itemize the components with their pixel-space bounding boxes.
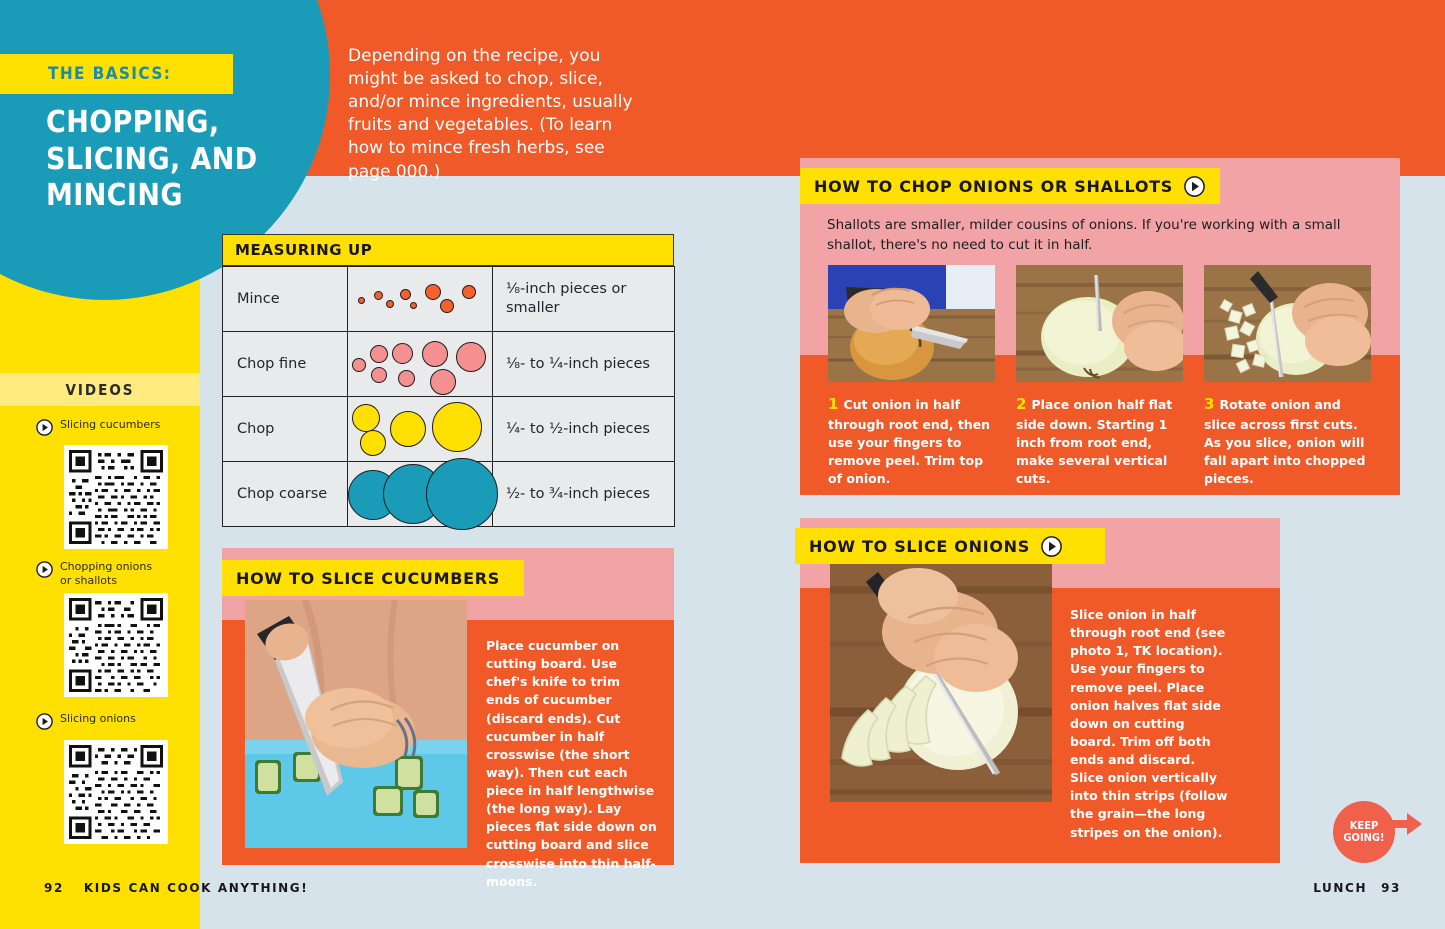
slice-onions-title-bar: HOW TO SLICE ONIONS bbox=[795, 528, 1105, 564]
chop-onions-step-3: 3Rotate onion and slice across first cut… bbox=[1204, 394, 1376, 488]
measuring-up-title: MEASURING UP bbox=[222, 234, 674, 266]
table-cell-size: ¼- to ½-inch pieces bbox=[493, 397, 675, 462]
chop-onions-step-1: 1Cut onion in half through root end, the… bbox=[828, 394, 996, 488]
measuring-up-table-wrapper: MEASURING UP Mince ⅛-inch pi bbox=[222, 234, 674, 527]
step-number: 2 bbox=[1016, 395, 1026, 413]
chop-onions-intro: Shallots are smaller, milder cousins of … bbox=[827, 216, 1372, 255]
photo-slice-onions bbox=[830, 562, 1052, 802]
chop-onions-step-2: 2Place onion half flat side down. Starti… bbox=[1016, 394, 1184, 488]
qr-code-slicing-onions[interactable] bbox=[64, 740, 168, 844]
footer-right: LUNCH93 bbox=[1313, 881, 1407, 895]
slice-cucumbers-title: HOW TO SLICE CUCUMBERS bbox=[236, 569, 500, 588]
table-row: Chop coarse ½- to ¾-inch pieces bbox=[223, 462, 675, 527]
table-row: Chop fine ⅛- to ¼-inch pieces bbox=[223, 332, 675, 397]
page-number-left: 92 bbox=[44, 881, 64, 895]
table-cell-size: ½- to ¾-inch pieces bbox=[493, 462, 675, 527]
play-icon[interactable] bbox=[36, 419, 53, 441]
video-label: Slicing cucumbers bbox=[60, 418, 160, 432]
table-row: Chop ¼- to ½-inch pieces bbox=[223, 397, 675, 462]
measuring-up-table: Mince ⅛-inch pieces or smaller bbox=[222, 266, 675, 527]
videos-header-label: VIDEOS bbox=[65, 381, 134, 399]
table-cell-size: ⅛- to ¼-inch pieces bbox=[493, 332, 675, 397]
table-cell-dots bbox=[348, 397, 493, 462]
table-cell-size: ⅛-inch pieces or smaller bbox=[493, 267, 675, 332]
qr-code-slicing-cucumbers[interactable] bbox=[64, 445, 168, 549]
step-number: 3 bbox=[1204, 395, 1214, 413]
table-row: Mince ⅛-inch pieces or smaller bbox=[223, 267, 675, 332]
section-title-right: LUNCH bbox=[1313, 881, 1367, 895]
video-label: Slicing onions bbox=[60, 712, 136, 726]
photo-rotate-and-slice bbox=[1204, 265, 1371, 382]
chop-onions-title: HOW TO CHOP ONIONS OR SHALLOTS bbox=[814, 177, 1173, 196]
step-number: 1 bbox=[828, 395, 838, 413]
play-icon[interactable] bbox=[36, 561, 53, 583]
play-icon[interactable] bbox=[36, 713, 53, 735]
chop-dots bbox=[348, 397, 493, 462]
step-text: Cut onion in half through root end, then… bbox=[828, 397, 990, 486]
videos-section-header: VIDEOS bbox=[0, 373, 200, 406]
mince-dots bbox=[348, 267, 493, 332]
table-cell-name: Chop fine bbox=[223, 332, 348, 397]
photo-cut-onion-in-half bbox=[828, 265, 995, 382]
video-item-chopping-onions[interactable]: Chopping onions or shallots bbox=[36, 560, 155, 588]
play-icon[interactable] bbox=[1184, 176, 1205, 197]
slice-onions-title: HOW TO SLICE ONIONS bbox=[809, 537, 1030, 556]
chop-coarse-dots bbox=[348, 462, 493, 527]
table-cell-name: Chop bbox=[223, 397, 348, 462]
video-label: Chopping onions or shallots bbox=[60, 560, 155, 588]
book-title-left: KIDS CAN COOK ANYTHING! bbox=[84, 881, 308, 895]
qr-code-chopping-onions[interactable] bbox=[64, 593, 168, 697]
slice-onions-text: Slice onion in half through root end (se… bbox=[1070, 606, 1232, 842]
table-cell-name: Mince bbox=[223, 267, 348, 332]
basics-eyebrow-label: THE BASICS: bbox=[48, 64, 171, 84]
step-text: Rotate onion and slice across first cuts… bbox=[1204, 397, 1365, 486]
page-title: CHOPPING, SLICING, AND MINCING bbox=[46, 105, 336, 215]
slice-cucumbers-text: Place cucumber on cutting board. Use che… bbox=[486, 637, 658, 891]
table-cell-dots bbox=[348, 332, 493, 397]
table-cell-dots bbox=[348, 267, 493, 332]
chop-fine-dots bbox=[348, 332, 493, 397]
slice-cucumbers-title-bar: HOW TO SLICE CUCUMBERS bbox=[222, 560, 524, 596]
photo-place-onion-flat bbox=[1016, 265, 1183, 382]
footer-left: 92KIDS CAN COOK ANYTHING! bbox=[38, 881, 308, 895]
photo-slice-cucumbers bbox=[245, 600, 467, 848]
chop-onions-title-bar: HOW TO CHOP ONIONS OR SHALLOTS bbox=[800, 168, 1220, 204]
play-icon[interactable] bbox=[1041, 536, 1062, 557]
table-cell-dots bbox=[348, 462, 493, 527]
intro-paragraph: Depending on the recipe, you might be as… bbox=[348, 45, 648, 184]
basics-eyebrow-badge: THE BASICS: bbox=[0, 54, 233, 94]
table-cell-name: Chop coarse bbox=[223, 462, 348, 527]
video-item-slicing-cucumbers[interactable]: Slicing cucumbers bbox=[36, 418, 160, 441]
cookbook-spread: THE BASICS: CHOPPING, SLICING, AND MINCI… bbox=[0, 0, 1445, 929]
keep-going-label: KEEP GOING! bbox=[1333, 820, 1395, 843]
video-item-slicing-onions[interactable]: Slicing onions bbox=[36, 712, 136, 735]
page-number-right: 93 bbox=[1381, 881, 1401, 895]
step-text: Place onion half flat side down. Startin… bbox=[1016, 397, 1172, 486]
keep-going-badge[interactable]: KEEP GOING! bbox=[1333, 801, 1395, 863]
